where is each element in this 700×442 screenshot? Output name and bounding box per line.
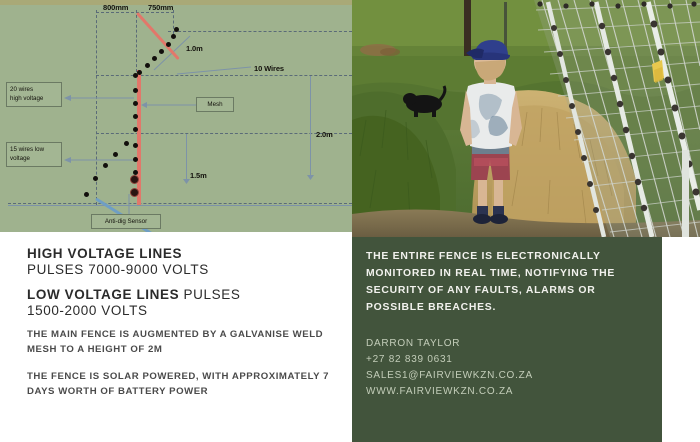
- low-voltage-heading: LOW VOLTAGE LINES PULSES 1500-2000 VOLTS: [27, 287, 330, 319]
- spacer: [27, 278, 330, 287]
- fence-photograph: [352, 0, 700, 237]
- dim-1p5m: 1.5m: [190, 171, 207, 180]
- wire-dot: [84, 192, 89, 197]
- specifications-text-block: HIGH VOLTAGE LINES PULSES 7000-9000 VOLT…: [0, 232, 352, 442]
- solar-power-paragraph: THE FENCE IS SOLAR POWERED, WITH APPROXI…: [27, 370, 330, 400]
- wires-10-leader: [175, 63, 253, 77]
- fence-photo-illustration: [352, 0, 700, 237]
- wire-dot: [152, 56, 157, 61]
- spacer: [366, 316, 646, 336]
- dim-2m: 2.0m: [316, 130, 333, 139]
- spacer: [27, 357, 330, 370]
- contact-email[interactable]: SALES1@FAIRVIEWKZN.CO.ZA: [366, 368, 646, 384]
- contact-phone[interactable]: +27 82 839 0631: [366, 352, 646, 368]
- guide-1p5m-top: [96, 133, 352, 134]
- wire-dot: [133, 157, 138, 162]
- wire-dot: [133, 143, 138, 148]
- spacer: [27, 319, 330, 328]
- mesh-augmentation-paragraph: THE MAIN FENCE IS AUGMENTED BY A GALVANI…: [27, 328, 330, 358]
- wire-dot: [133, 127, 138, 132]
- measure-2m-line: [310, 76, 311, 178]
- dimension-guide-mid: [136, 10, 137, 72]
- wire-dot: [133, 73, 138, 78]
- anti-dig-sensor-marker: [130, 188, 139, 197]
- callout-mesh: Mesh: [196, 97, 234, 112]
- callout-low-voltage-line1: 15 wires low: [10, 146, 44, 153]
- low-voltage-value: 1500-2000 VOLTS: [27, 303, 148, 318]
- wire-dot: [171, 34, 176, 39]
- wire-dot: [166, 42, 171, 47]
- callout-anti-dig-sensor: Anti-dig Sensor: [91, 214, 161, 229]
- ground-line: [8, 205, 352, 206]
- anti-dig-sensor-marker: [130, 175, 139, 184]
- mesh-leader: [140, 100, 198, 110]
- callout-low-voltage-wires: 15 wires low voltage: [6, 142, 62, 167]
- high-voltage-title: HIGH VOLTAGE LINES: [27, 246, 182, 261]
- measure-1p5m-line: [186, 134, 187, 182]
- wire-dot: [93, 176, 98, 181]
- wire-dot: [133, 114, 138, 119]
- monitoring-headline: THE ENTIRE FENCE IS ELECTRONICALLY MONIT…: [366, 249, 646, 316]
- dim-750mm: 750mm: [148, 3, 173, 12]
- dimension-top-span: [96, 12, 174, 13]
- wire-dot: [124, 141, 129, 146]
- contact-website[interactable]: WWW.FAIRVIEWKZN.CO.ZA: [366, 384, 646, 400]
- wire-dot: [159, 49, 164, 54]
- low-voltage-pulses-word: PULSES: [179, 287, 240, 302]
- high-voltage-leader: [62, 93, 136, 103]
- wire-dot: [133, 101, 138, 106]
- guide-ground-level: [8, 203, 352, 204]
- monitoring-and-contact-panel: THE ENTIRE FENCE IS ELECTRONICALLY MONIT…: [352, 237, 662, 442]
- wire-dot: [145, 63, 150, 68]
- dim-10-wires: 10 Wires: [254, 64, 284, 73]
- fence-specification-diagram: 800mm 750mm 1.0m 10 Wires 2.0m 1.5m 20 w…: [0, 0, 352, 232]
- wire-dot: [113, 152, 118, 157]
- low-voltage-title: LOW VOLTAGE LINES: [27, 287, 179, 302]
- wire-dot: [133, 88, 138, 93]
- measure-2m-arrow: [306, 172, 315, 181]
- high-voltage-value: PULSES 7000-9000 VOLTS: [27, 262, 209, 277]
- diagram-top-strip: [0, 0, 352, 5]
- dim-800mm: 800mm: [103, 3, 128, 12]
- wire-dot: [174, 27, 179, 32]
- callout-high-voltage-wires: 20 wires high voltage: [6, 82, 62, 107]
- wire-dot: [103, 163, 108, 168]
- dim-1m: 1.0m: [186, 44, 203, 53]
- guide-top-of-outrigger: [168, 31, 352, 32]
- high-voltage-heading: HIGH VOLTAGE LINES PULSES 7000-9000 VOLT…: [27, 246, 330, 278]
- contact-name: DARRON TAYLOR: [366, 336, 646, 352]
- right-margin: [662, 237, 700, 442]
- low-voltage-leader: [62, 155, 136, 165]
- callout-low-voltage-line2: voltage: [10, 155, 30, 162]
- callout-high-voltage-line1: 20 wires: [10, 86, 33, 93]
- callout-high-voltage-line2: high voltage: [10, 95, 43, 102]
